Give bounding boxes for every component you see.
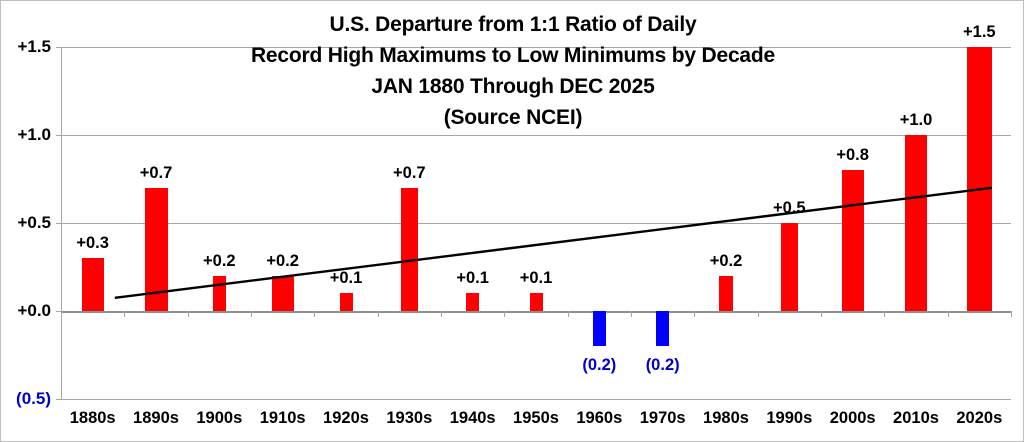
bar-label-1920s: +0.1	[330, 269, 363, 288]
bar-1940s[interactable]	[466, 293, 479, 311]
bar-2010s[interactable]	[905, 135, 927, 311]
bar-2000s[interactable]	[842, 170, 864, 311]
x-axis-tick	[821, 311, 822, 317]
bar-2020s[interactable]	[967, 47, 992, 311]
bar-1990s[interactable]	[781, 223, 798, 311]
chart-title-line-1: U.S. Departure from 1:1 Ratio of Daily	[1, 9, 1024, 40]
x-axis-tick	[568, 311, 569, 317]
bar-label-1970s: (0.2)	[646, 356, 680, 375]
x-axis-tick	[631, 311, 632, 317]
x-axis-label-1890s: 1890s	[133, 409, 179, 428]
x-axis-tick	[884, 311, 885, 317]
x-axis-label-1950s: 1950s	[513, 409, 559, 428]
y-axis-label: +0.0	[0, 301, 51, 321]
y-axis-line	[61, 47, 62, 399]
x-axis-label-1920s: 1920s	[323, 409, 369, 428]
bar-1880s[interactable]	[82, 258, 104, 311]
bar-label-1880s: +0.3	[76, 234, 109, 253]
x-axis-label-2000s: 2000s	[830, 409, 876, 428]
chart-container: U.S. Departure from 1:1 Ratio of Daily R…	[0, 0, 1024, 442]
x-axis-tick	[378, 311, 379, 317]
bar-label-1900s: +0.2	[203, 252, 236, 271]
x-axis-tick	[314, 311, 315, 317]
x-axis-label-1980s: 1980s	[703, 409, 749, 428]
gridline	[61, 135, 1011, 136]
x-axis-tick	[61, 311, 62, 317]
bar-1890s[interactable]	[145, 188, 168, 311]
x-axis-tick	[441, 311, 442, 317]
gridline	[61, 223, 1011, 224]
x-axis-tick	[948, 311, 949, 317]
bar-label-1990s: +0.5	[773, 199, 806, 218]
bar-label-1980s: +0.2	[710, 252, 743, 271]
y-axis-label: (0.5)	[0, 389, 51, 409]
zero-line	[61, 311, 1011, 313]
bar-1900s[interactable]	[213, 276, 226, 311]
bar-label-1910s: +0.2	[266, 252, 299, 271]
bar-1980s[interactable]	[719, 276, 733, 311]
x-axis-label-1930s: 1930s	[386, 409, 432, 428]
bar-label-1890s: +0.7	[140, 164, 173, 183]
bar-label-2000s: +0.8	[836, 146, 869, 165]
x-axis-label-2020s: 2020s	[956, 409, 1002, 428]
x-axis-label-2010s: 2010s	[893, 409, 939, 428]
bar-1930s[interactable]	[401, 188, 418, 311]
bar-1920s[interactable]	[340, 293, 353, 311]
bar-1950s[interactable]	[530, 293, 543, 311]
x-axis-tick	[188, 311, 189, 317]
x-axis-tick	[694, 311, 695, 317]
y-axis-label: +1.0	[0, 125, 51, 145]
x-axis-label-1990s: 1990s	[766, 409, 812, 428]
y-axis-tick	[56, 399, 62, 400]
x-axis-label-1900s: 1900s	[196, 409, 242, 428]
bar-label-1950s: +0.1	[520, 269, 553, 288]
bar-label-1940s: +0.1	[456, 269, 489, 288]
x-axis-label-1910s: 1910s	[260, 409, 306, 428]
bar-1970s[interactable]	[656, 311, 669, 346]
x-axis-label-1880s: 1880s	[70, 409, 116, 428]
x-axis-tick	[758, 311, 759, 317]
plot-area	[61, 47, 1011, 399]
x-axis-label-1940s: 1940s	[450, 409, 496, 428]
x-axis-label-1970s: 1970s	[640, 409, 686, 428]
x-axis-label-1960s: 1960s	[576, 409, 622, 428]
bar-label-2010s: +1.0	[900, 111, 933, 130]
gridline	[61, 47, 1011, 48]
x-axis-tick	[504, 311, 505, 317]
bar-1910s[interactable]	[272, 276, 294, 311]
bar-1960s[interactable]	[593, 311, 606, 346]
x-axis-tick	[124, 311, 125, 317]
bar-label-1960s: (0.2)	[582, 356, 616, 375]
y-axis-label: +1.5	[0, 37, 51, 57]
gridline	[61, 399, 1011, 400]
x-axis-tick	[251, 311, 252, 317]
bar-label-2020s: +1.5	[963, 23, 996, 42]
x-axis-tick	[1011, 311, 1012, 317]
bar-label-1930s: +0.7	[393, 164, 426, 183]
y-axis-label: +0.5	[0, 213, 51, 233]
